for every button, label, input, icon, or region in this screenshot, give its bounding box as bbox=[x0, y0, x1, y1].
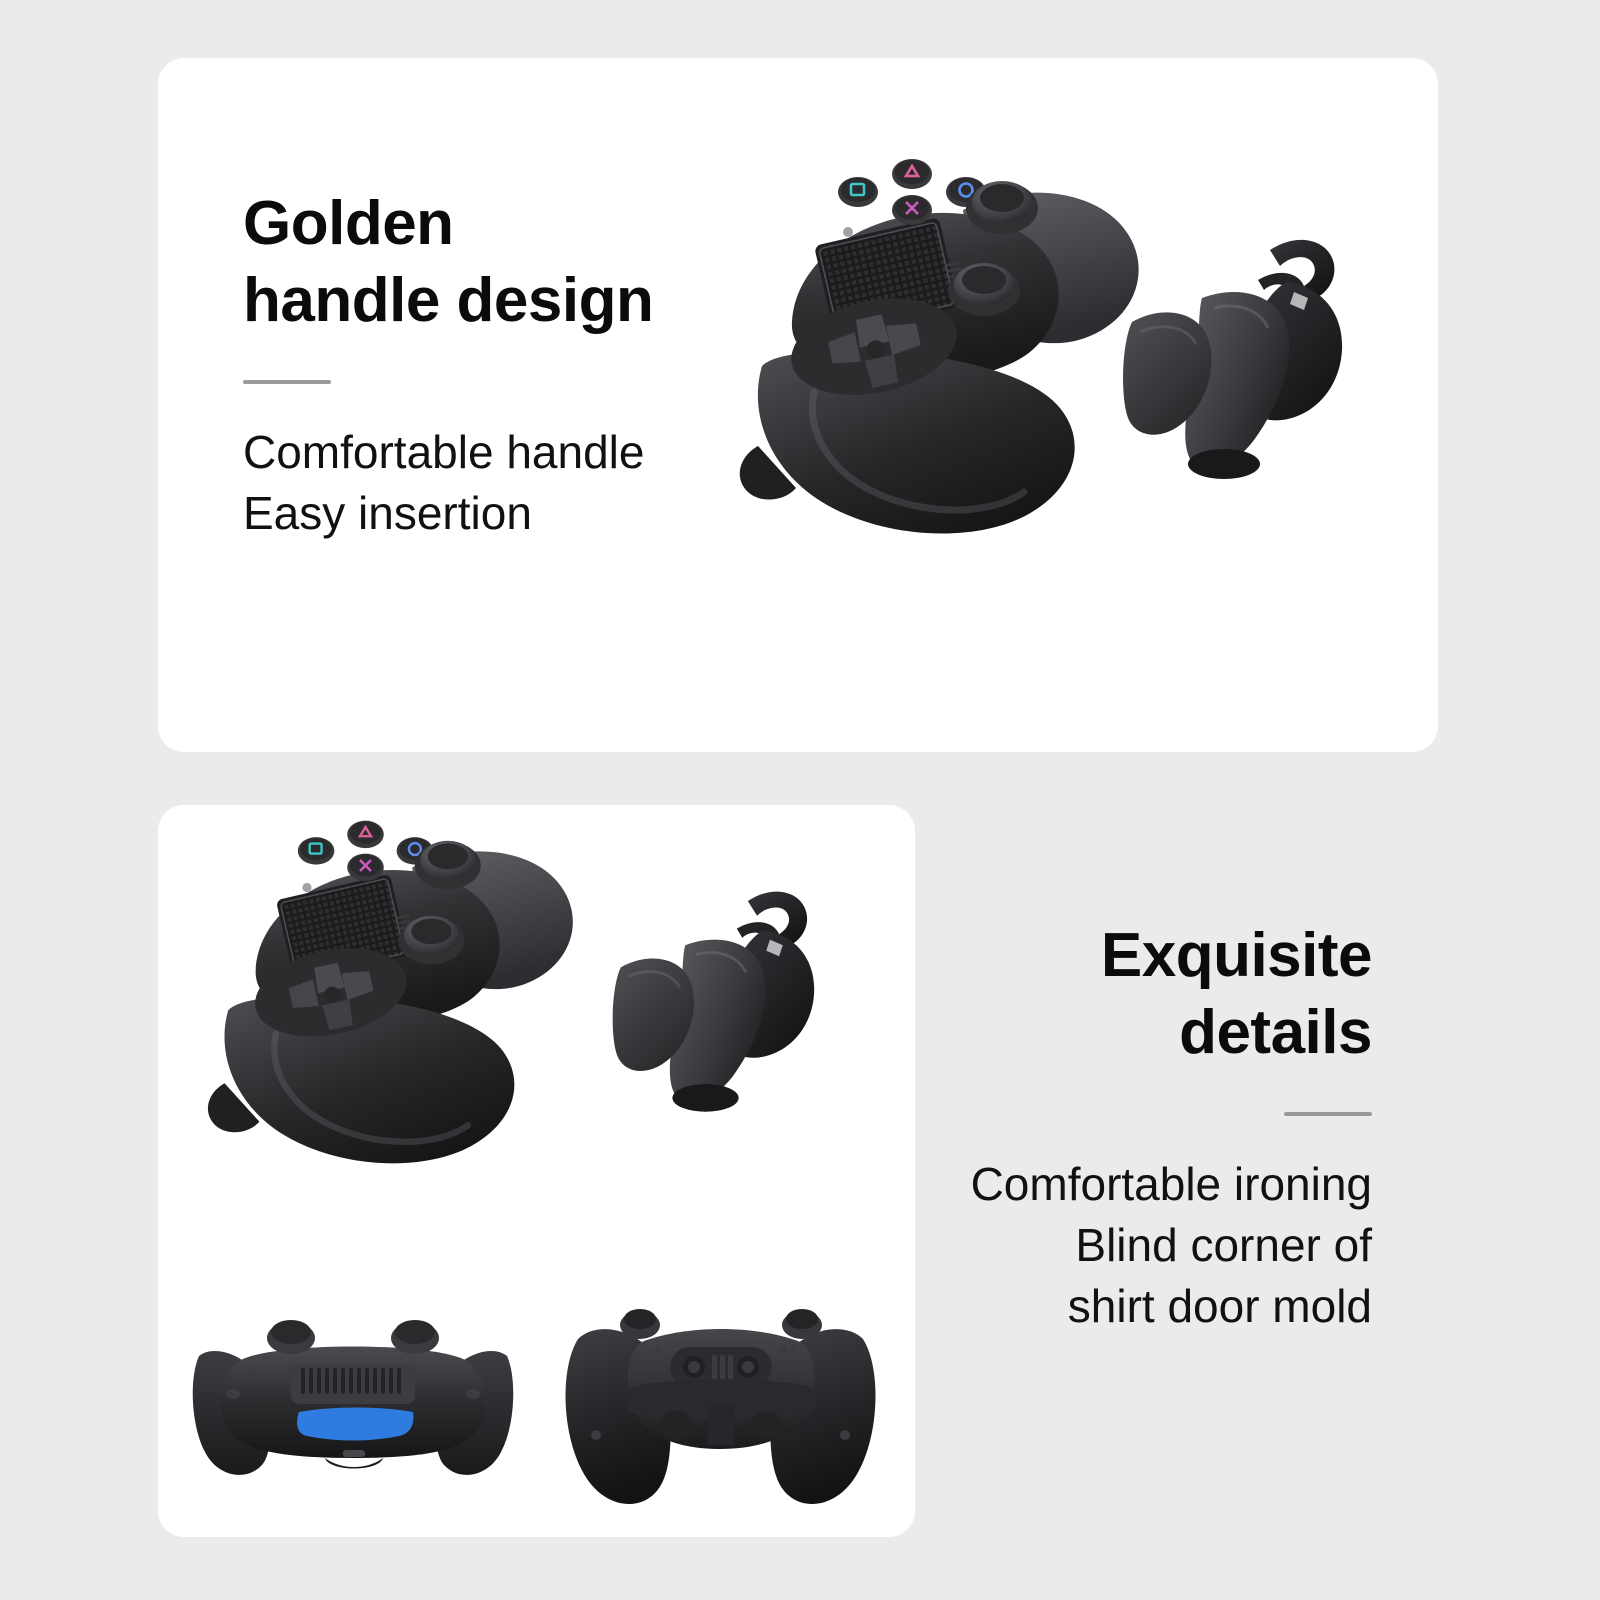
controller-rear-view-thumbnail bbox=[548, 1285, 893, 1530]
controller-top-view-thumbnail bbox=[183, 1290, 523, 1525]
clip-illustration bbox=[608, 870, 838, 1140]
exquisite-details-subtext: Comfortable ironing Blind corner of shir… bbox=[852, 1154, 1372, 1338]
ps4-controller-hero-second bbox=[188, 800, 618, 1200]
light-bar bbox=[297, 1408, 413, 1441]
controller-clip-accessory-second bbox=[608, 870, 838, 1140]
controller-clip-accessory bbox=[1118, 228, 1368, 498]
golden-handle-headline: Golden handle design bbox=[243, 186, 763, 340]
controller-illustration bbox=[188, 800, 618, 1200]
controller-top-view-illustration bbox=[183, 1290, 523, 1525]
exquisite-details-headline: Exquisite details bbox=[852, 918, 1372, 1072]
exquisite-details-text-block: Exquisite details Comfortable ironing Bl… bbox=[852, 918, 1372, 1337]
clip-illustration bbox=[1118, 228, 1368, 498]
headline-divider bbox=[1284, 1112, 1372, 1116]
golden-handle-subtext: Comfortable handle Easy insertion bbox=[243, 422, 763, 544]
controller-rear-view-illustration bbox=[548, 1285, 893, 1530]
headline-divider bbox=[243, 380, 331, 384]
golden-handle-text-block: Golden handle design Comfortable handle … bbox=[243, 186, 763, 544]
product-detail-page: Golden handle design Comfortable handle … bbox=[0, 0, 1600, 1600]
